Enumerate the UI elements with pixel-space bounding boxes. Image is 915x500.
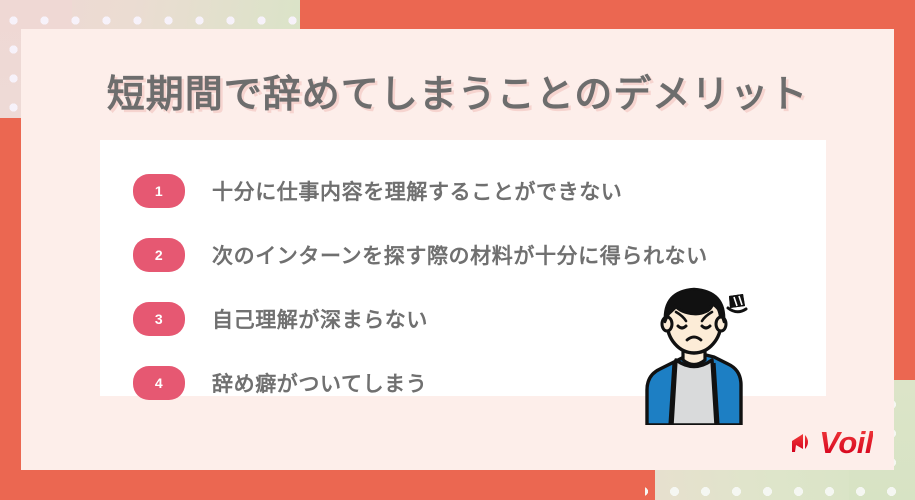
list-item-number-badge: 1 bbox=[133, 174, 185, 208]
list-item-label: 自己理解が深まらない bbox=[212, 304, 428, 334]
list-item: 1 十分に仕事内容を理解することができない bbox=[100, 159, 826, 223]
list-item-label: 十分に仕事内容を理解することができない bbox=[212, 176, 622, 206]
list-item-number-badge: 2 bbox=[133, 238, 185, 272]
list-item-number-badge: 3 bbox=[133, 302, 185, 336]
list-item: 2 次のインターンを探す際の材料が十分に得られない bbox=[100, 223, 826, 287]
logo-text: Voil bbox=[819, 427, 873, 458]
sad-person-illustration bbox=[633, 282, 755, 425]
list-item-number-badge: 4 bbox=[133, 366, 185, 400]
voil-logo[interactable]: Voil bbox=[791, 427, 873, 458]
sweat-drop-icon bbox=[728, 294, 746, 312]
list-item-label: 次のインターンを探す際の材料が十分に得られない bbox=[212, 240, 708, 270]
megaphone-icon bbox=[791, 432, 815, 454]
page-title: 短期間で辞めてしまうことのデメリット bbox=[0, 63, 915, 118]
list-item-label: 辞め癖がついてしまう bbox=[212, 368, 427, 398]
